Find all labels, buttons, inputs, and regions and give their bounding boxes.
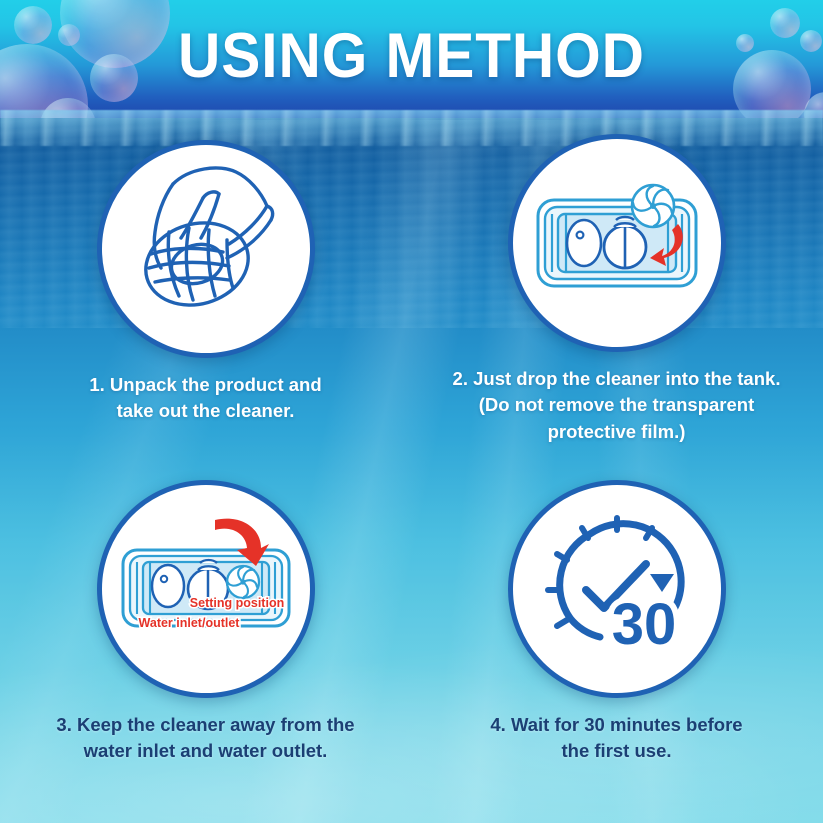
hand-unpacking-cleaner-icon	[111, 154, 301, 344]
timer-30-minutes-icon: 30 30	[522, 494, 712, 684]
caption-line: 1. Unpack the product and	[12, 372, 399, 398]
water-inlet-outlet-label: Water inlet/outlet	[138, 616, 240, 630]
step-4-caption: 4. Wait for 30 minutes before the first …	[411, 712, 822, 765]
caption-line: the first use.	[423, 738, 810, 764]
page-title: USING METHOD	[29, 0, 794, 112]
caption-line: take out the cleaner.	[12, 398, 399, 424]
step-2-icon-wrap	[411, 134, 822, 352]
step-3-icon-wrap: Setting position Water inlet/outlet	[0, 480, 411, 698]
step-2: 2. Just drop the cleaner into the tank. …	[411, 134, 822, 445]
caption-line: (Do not remove the transparent	[423, 392, 810, 418]
setting-position-label: Setting position	[189, 596, 283, 610]
caption-line: 2. Just drop the cleaner into the tank.	[423, 366, 810, 392]
step-1-icon-wrap	[0, 140, 411, 358]
caption-line: protective film.)	[423, 419, 810, 445]
step-3-circle: Setting position Water inlet/outlet	[97, 480, 315, 698]
caption-line: 4. Wait for 30 minutes before	[423, 712, 810, 738]
tank-drop-cleaner-icon	[522, 148, 712, 338]
tank-setting-position-icon: Setting position Water inlet/outlet	[111, 494, 301, 684]
using-method-poster: USING METHOD	[0, 0, 823, 823]
step-4-icon-wrap: 30 30	[411, 480, 822, 698]
caption-line: 3. Keep the cleaner away from the	[12, 712, 399, 738]
step-1: 1. Unpack the product and take out the c…	[0, 140, 411, 425]
step-1-circle	[97, 140, 315, 358]
step-1-caption: 1. Unpack the product and take out the c…	[0, 372, 411, 425]
caption-line: water inlet and water outlet.	[12, 738, 399, 764]
step-4: 30 30 4. Wait for 30 minutes before the …	[411, 480, 822, 765]
step-3: Setting position Water inlet/outlet 3. K…	[0, 480, 411, 765]
bubble-icon	[800, 30, 822, 52]
step-4-circle: 30 30	[508, 480, 726, 698]
step-2-caption: 2. Just drop the cleaner into the tank. …	[411, 366, 822, 445]
step-2-circle	[508, 134, 726, 352]
timer-value-label: 30	[611, 592, 676, 657]
step-3-caption: 3. Keep the cleaner away from the water …	[0, 712, 411, 765]
steps-grid: 1. Unpack the product and take out the c…	[0, 118, 823, 823]
